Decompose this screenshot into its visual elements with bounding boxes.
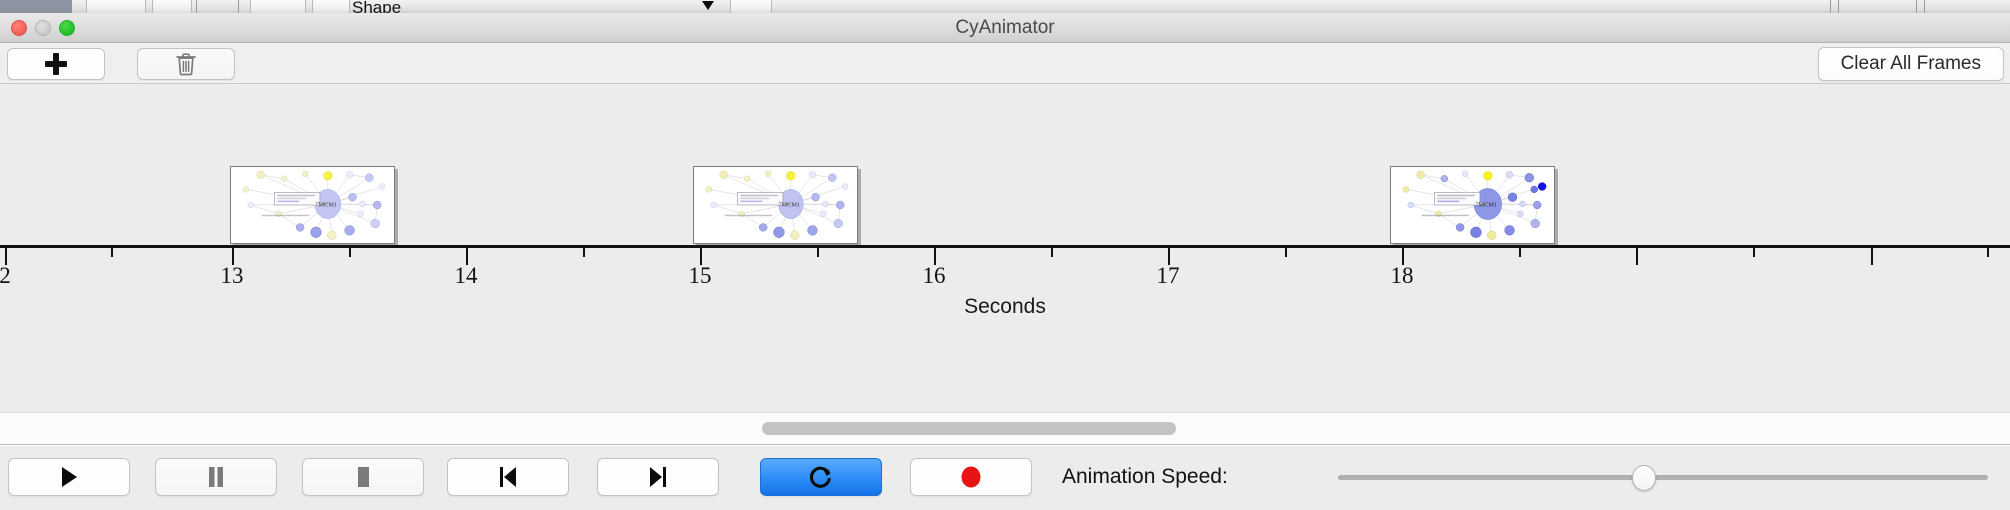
axis-tick-minor <box>583 248 585 257</box>
axis-tick-minor <box>1519 248 1521 257</box>
axis-tick-major <box>1636 248 1638 265</box>
scrollbar-thumb[interactable] <box>762 422 1176 435</box>
background-window-chip <box>0 0 72 13</box>
skip-forward-icon <box>647 465 669 489</box>
background-divider <box>1916 0 1917 13</box>
axis-tick-minor <box>111 248 113 257</box>
svg-text:MCM1: MCM1 <box>318 201 337 208</box>
timeline-axis-line <box>0 245 2010 248</box>
animation-speed-label: Animation Speed: <box>1062 458 1228 496</box>
axis-tick-label: 15 <box>689 263 712 289</box>
toolbar: Clear All Frames <box>0 43 2010 84</box>
background-window-title: Shape <box>352 0 401 13</box>
axis-tick-minor <box>1285 248 1287 257</box>
background-toolbar-segment <box>152 0 192 13</box>
add-frame-button[interactable] <box>7 48 105 80</box>
axis-tick-label: 2 <box>0 263 11 289</box>
axis-tick-major <box>1871 248 1873 265</box>
loop-button[interactable] <box>760 458 882 496</box>
loop-icon <box>808 464 834 490</box>
background-caret-icon <box>702 1 714 10</box>
background-divider <box>1924 0 1925 13</box>
axis-tick-label: 16 <box>923 263 946 289</box>
trash-icon <box>175 52 197 76</box>
background-divider <box>1838 0 1839 13</box>
background-window-sliver: Shape <box>0 0 2010 13</box>
window-title: CyAnimator <box>0 13 2010 43</box>
delete-frame-button[interactable] <box>137 48 235 80</box>
stop-icon <box>353 465 373 489</box>
axis-tick-minor <box>1987 248 1989 257</box>
axis-tick-minor <box>349 248 351 257</box>
record-button[interactable] <box>910 458 1032 496</box>
plus-icon <box>45 53 67 75</box>
axis-tick-minor <box>1753 248 1755 257</box>
animation-speed-slider[interactable] <box>1338 475 1988 480</box>
timeline-panel[interactable]: MCM1 <box>0 84 2010 412</box>
background-divider <box>1830 0 1831 13</box>
background-toolbar-segment <box>312 0 350 13</box>
background-toolbar-segment <box>730 0 772 13</box>
record-icon <box>959 464 983 490</box>
axis-tick-label: 17 <box>1157 263 1180 289</box>
background-toolbar-segment <box>86 0 146 13</box>
playback-control-bar: Animation Speed: <box>0 446 2010 510</box>
title-bar[interactable]: CyAnimator <box>0 13 2010 43</box>
network-thumbnail-graphic: MCM1 <box>231 167 394 243</box>
horizontal-scrollbar[interactable] <box>0 412 2010 445</box>
axis-tick-label: 13 <box>221 263 244 289</box>
clear-all-frames-button[interactable]: Clear All Frames <box>1818 47 2004 81</box>
frame-thumbnail[interactable]: MCM1 <box>1390 166 1555 244</box>
axis-tick-label: 18 <box>1391 263 1414 289</box>
play-button[interactable] <box>8 458 130 496</box>
stop-button[interactable] <box>302 458 424 496</box>
skip-to-end-button[interactable] <box>597 458 719 496</box>
network-thumbnail-graphic: MCM1 <box>694 167 857 243</box>
skip-back-icon <box>497 465 519 489</box>
axis-tick-label: 14 <box>455 263 478 289</box>
frame-thumbnail[interactable]: MCM1 <box>693 166 858 244</box>
skip-to-start-button[interactable] <box>447 458 569 496</box>
play-icon <box>58 465 80 489</box>
svg-text:MCM1: MCM1 <box>781 201 800 208</box>
svg-text:MCM1: MCM1 <box>1478 201 1497 208</box>
frame-thumbnail[interactable]: MCM1 <box>230 166 395 244</box>
network-thumbnail-graphic: MCM1 <box>1391 167 1554 243</box>
background-divider <box>238 0 239 13</box>
pause-button[interactable] <box>155 458 277 496</box>
axis-title: Seconds <box>0 295 2010 319</box>
axis-tick-minor <box>817 248 819 257</box>
animation-speed-slider-thumb[interactable] <box>1632 465 1656 491</box>
cyanimator-window: Shape CyAnimator Clear All Fram <box>0 0 2010 510</box>
pause-icon <box>206 465 226 489</box>
background-divider <box>196 0 197 13</box>
background-toolbar-segment <box>250 0 306 13</box>
axis-tick-minor <box>1051 248 1053 257</box>
